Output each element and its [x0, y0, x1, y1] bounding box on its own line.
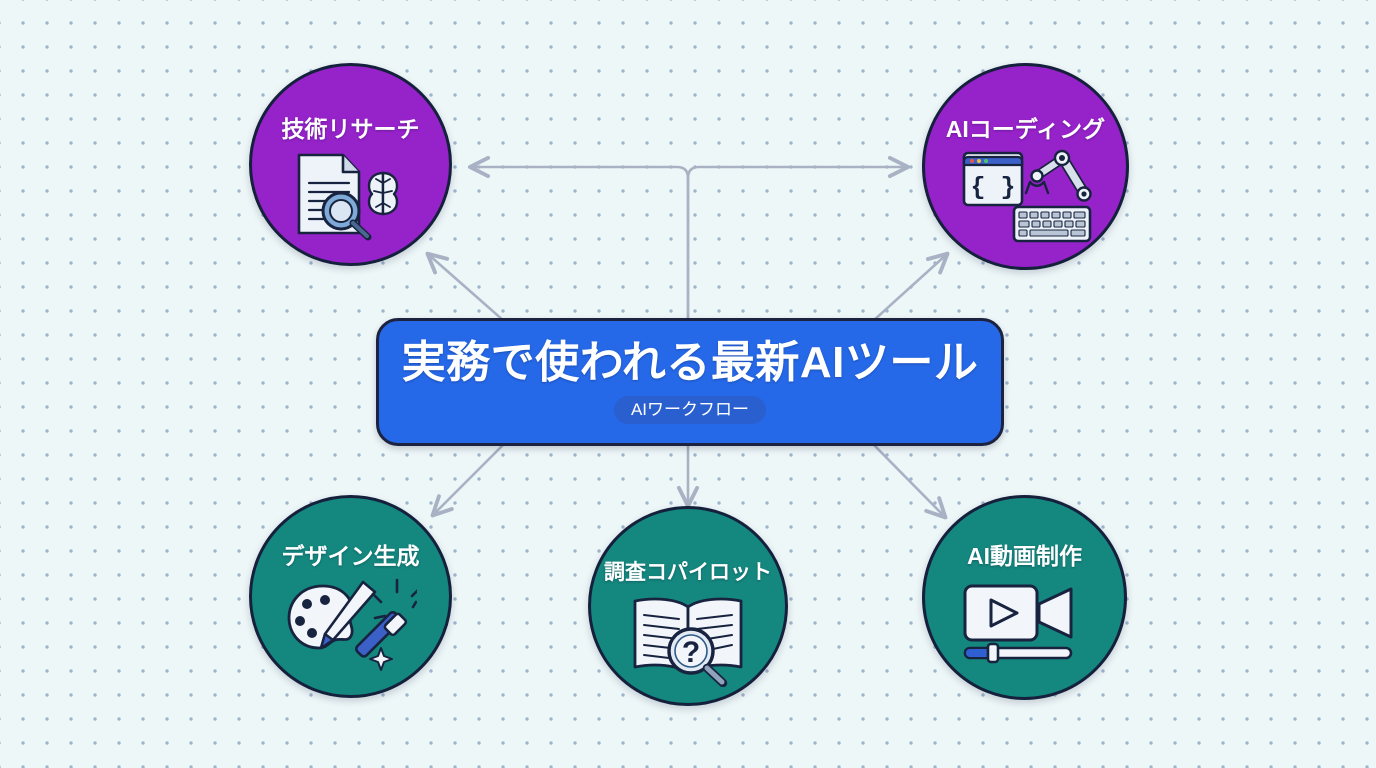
connector-diagonal-to-design — [434, 444, 504, 514]
open-book-magnifier-question-icon: ? — [625, 591, 751, 692]
branch-node-copilot[interactable]: 調査コパイロット — [588, 506, 788, 706]
palette-brush-wand-icon — [285, 576, 417, 681]
document-magnifier-brain-icon — [289, 149, 413, 246]
branch-node-research[interactable]: 技術リサーチ — [249, 63, 452, 266]
video-camera-play-timeline-icon — [961, 576, 1089, 671]
branch-label-video: AI動画制作 — [967, 545, 1082, 568]
branch-node-design[interactable]: デザイン生成 — [249, 495, 452, 698]
central-badge: AIワークフロー — [614, 396, 766, 424]
mindmap-canvas: 実務で使われる最新AIツール AIワークフロー 技術リサーチ — [0, 0, 1376, 768]
code-window-robot-arm-keyboard-icon: { } — [958, 149, 1094, 250]
branch-label-copilot: 調査コパイロット — [604, 562, 772, 583]
svg-text:{ }: { } — [970, 173, 1015, 202]
connector-tee-to-coding — [688, 167, 906, 318]
connector-diagonal-to-video — [873, 444, 944, 516]
connector-diagonal-to-research — [429, 255, 504, 321]
branch-label-research: 技術リサーチ — [282, 118, 420, 141]
central-title: 実務で使われる最新AIツール — [402, 340, 979, 386]
branch-label-coding: AIコーディング — [946, 118, 1105, 141]
svg-text:?: ? — [682, 636, 700, 669]
branch-node-coding[interactable]: AIコーディング { } — [922, 63, 1129, 270]
connector-tee-to-research — [472, 167, 688, 318]
central-node[interactable]: 実務で使われる最新AIツール AIワークフロー — [376, 318, 1004, 446]
branch-node-video[interactable]: AI動画制作 — [922, 495, 1127, 700]
branch-label-design: デザイン生成 — [282, 545, 420, 568]
connector-diagonal-to-coding — [873, 255, 946, 321]
